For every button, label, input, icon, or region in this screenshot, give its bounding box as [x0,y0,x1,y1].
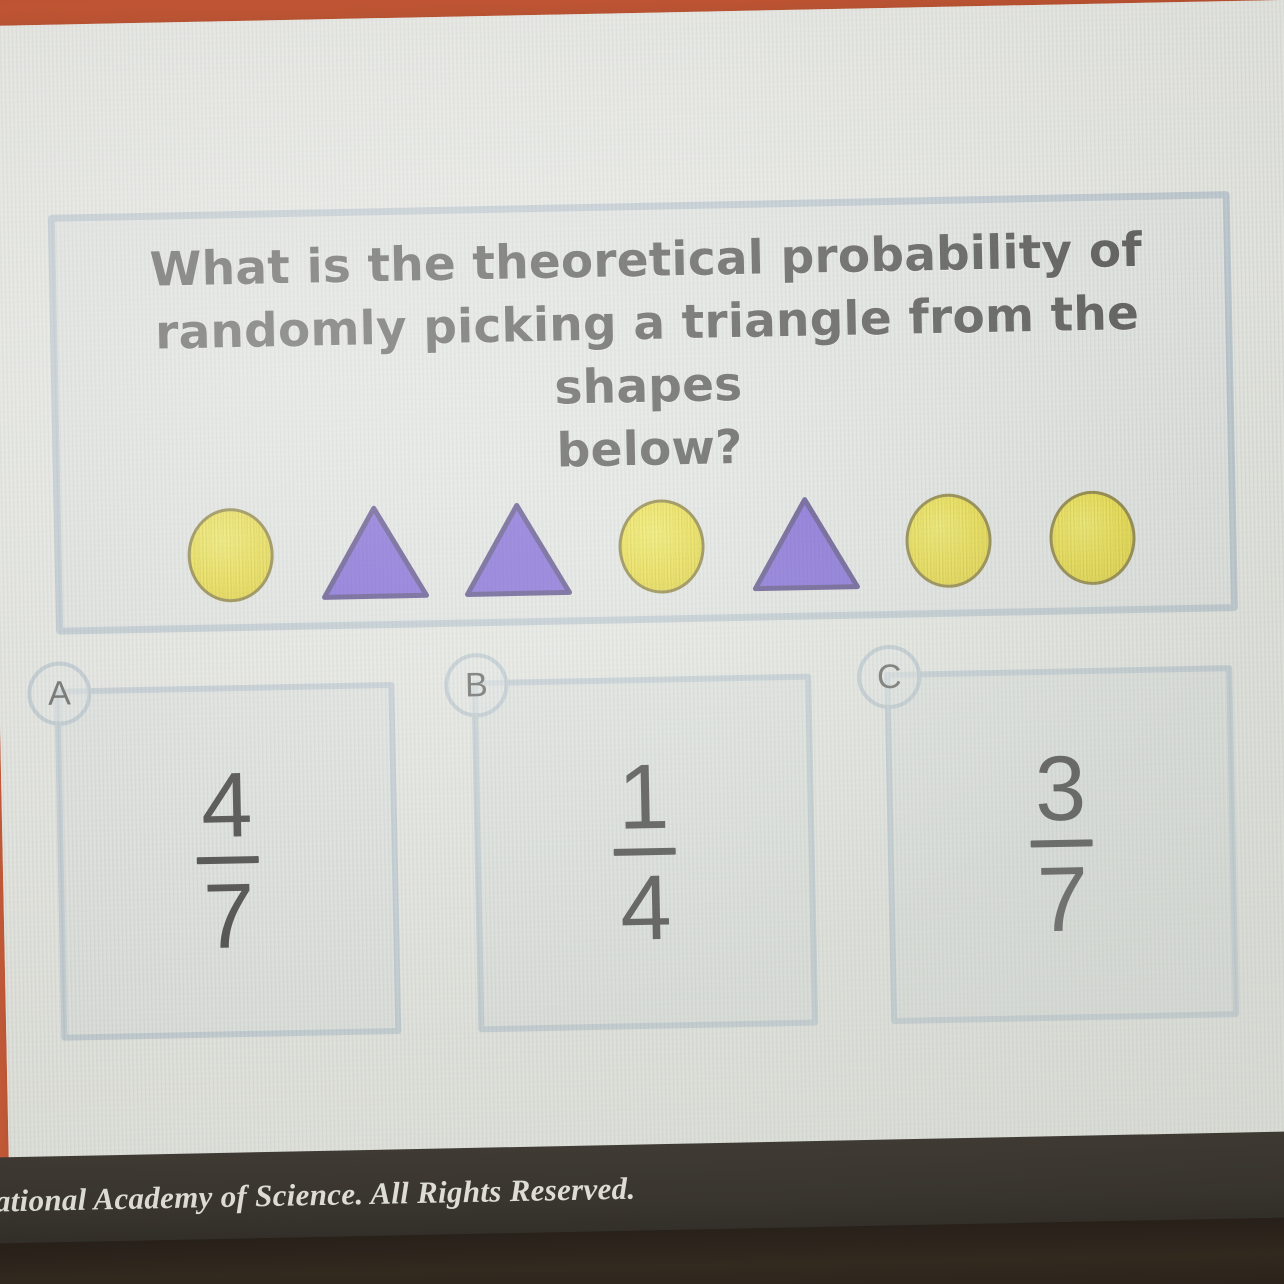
answer-fraction-b: 1 4 [479,749,811,957]
question-line-2: randomly picking a triangle from the sha… [87,282,1209,430]
yellow-circle-icon [187,507,275,603]
monitor-screen: What is the theoretical probability of r… [0,0,1284,1176]
answer-option-c[interactable]: C 3 7 [884,665,1239,1024]
answer-fraction-a: 4 7 [62,757,394,965]
shape-slot-5 [745,489,865,597]
yellow-circle-icon [905,493,993,589]
shape-slot-1 [171,501,291,609]
answer-denominator-c: 7 [1036,855,1089,946]
yellow-circle-icon [618,499,706,595]
question-panel: What is the theoretical probability of r… [48,191,1238,635]
fraction-bar [614,848,676,856]
shape-slot-6 [889,487,1009,595]
question-text: What is the theoretical probability of r… [85,219,1210,493]
purple-triangle-icon [750,496,860,592]
answer-fraction-c: 3 7 [892,741,1232,949]
answer-badge-c[interactable]: C [857,644,922,709]
answer-denominator-a: 7 [202,871,255,962]
answer-numerator-b: 1 [617,752,670,843]
shape-slot-4 [602,492,722,600]
answer-numerator-c: 3 [1034,743,1087,834]
shape-slot-3 [458,495,578,603]
answer-choices: A 4 7 B 1 4 C [0,648,1284,1074]
purple-triangle-icon [319,504,429,600]
answer-option-a[interactable]: A 4 7 [54,682,401,1041]
shape-slot-7 [1032,484,1152,592]
answer-badge-b[interactable]: B [444,653,509,718]
answer-denominator-b: 4 [619,863,672,954]
copyright-text: ational Academy of Science. All Rights R… [0,1171,636,1220]
answer-option-b[interactable]: B 1 4 [471,674,818,1033]
yellow-circle-icon [1048,490,1136,586]
shapes-row [171,480,1153,610]
fraction-bar [197,856,259,864]
answer-badge-a[interactable]: A [27,661,92,726]
fraction-bar [1031,839,1093,847]
answer-numerator-a: 4 [200,760,253,851]
purple-triangle-icon [463,501,573,597]
shape-slot-2 [314,498,434,606]
photo-of-monitor: What is the theoretical probability of r… [0,0,1284,1284]
